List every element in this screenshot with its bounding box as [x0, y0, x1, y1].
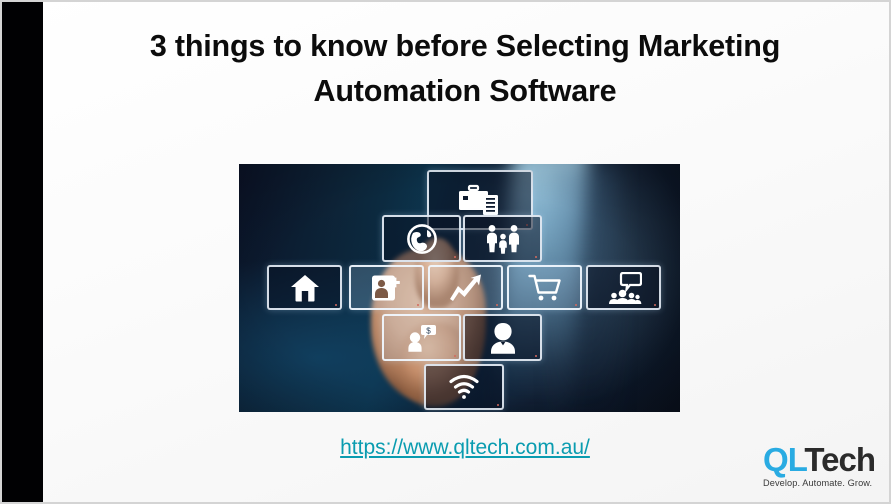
page-title: 3 things to know before Selecting Market… [70, 24, 860, 114]
hero-image: $ [239, 164, 680, 412]
qltech-logo: QLTech Develop. Automate. Grow. [763, 443, 875, 488]
title-line-1: 3 things to know before Selecting Market… [70, 24, 860, 69]
logo-wordmark: QLTech [763, 443, 875, 476]
title-line-2: Automation Software [70, 69, 860, 114]
photo-vignette [239, 164, 680, 412]
presentation-slide: 3 things to know before Selecting Market… [0, 0, 891, 504]
left-black-band [2, 2, 43, 502]
logo-ql-text: QL [763, 441, 804, 478]
logo-tech-text: Tech [804, 441, 875, 478]
website-url-link[interactable]: https://www.qltech.com.au/ [70, 436, 860, 460]
logo-tagline: Develop. Automate. Grow. [763, 479, 875, 488]
